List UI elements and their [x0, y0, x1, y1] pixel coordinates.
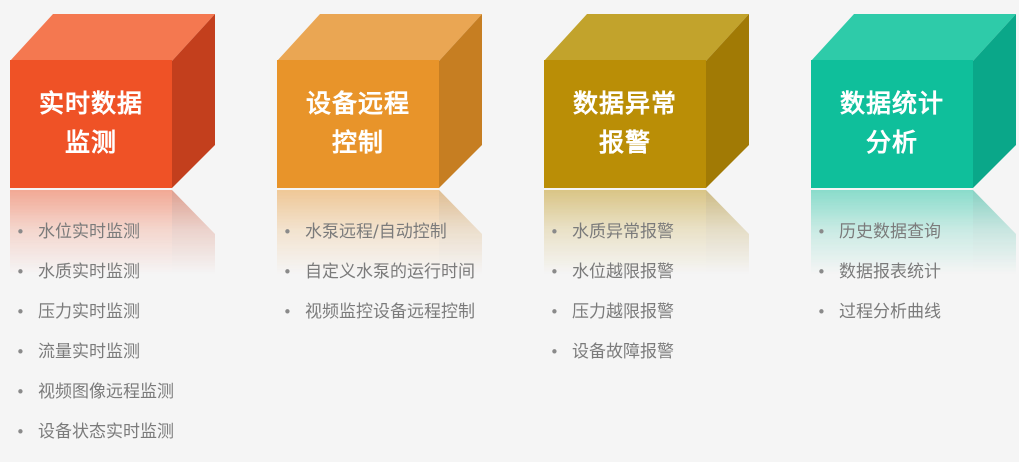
list-item-label: 水泵远程/自动控制	[305, 222, 447, 242]
feature-list-realtime-data-monitoring: •水位实时监测•水质实时监测•压力实时监测•流量实时监测•视频图像远程监测•设备…	[10, 222, 260, 462]
list-item[interactable]: •设备故障报警	[544, 342, 794, 382]
list-item-label: 水质实时监测	[38, 262, 140, 282]
cube-front-face	[10, 60, 172, 188]
list-item[interactable]: •流量实时监测	[10, 342, 260, 382]
bullet-dot-icon: •	[277, 225, 305, 240]
list-item[interactable]: •水位越限报警	[544, 262, 794, 302]
list-item-label: 设备状态实时监测	[38, 422, 174, 442]
bullet-dot-icon: •	[544, 305, 572, 320]
list-item[interactable]: •视频图像远程监测	[10, 382, 260, 422]
list-item-label: 流量实时监测	[38, 342, 140, 362]
list-item[interactable]: •数据报表统计	[811, 262, 1019, 302]
list-item[interactable]: •水泵远程/自动控制	[277, 222, 527, 262]
bullet-dot-icon: •	[544, 345, 572, 360]
bullet-dot-icon: •	[10, 305, 38, 320]
cube-data-statistics-analysis[interactable]: 数据统计分析	[811, 14, 1016, 189]
cube-shape: 数据统计分析	[811, 14, 1016, 189]
feature-list-data-anomaly-alarm: •水质异常报警•水位越限报警•压力越限报警•设备故障报警	[544, 222, 794, 382]
feature-list-device-remote-control: •水泵远程/自动控制•自定义水泵的运行时间•视频监控设备远程控制	[277, 222, 527, 342]
list-item-label: 视频图像远程监测	[38, 382, 174, 402]
list-item[interactable]: •水质实时监测	[10, 262, 260, 302]
cube-front-face	[811, 60, 973, 188]
list-item-label: 数据报表统计	[839, 262, 941, 282]
bullet-dot-icon: •	[811, 265, 839, 280]
cube-shape: 设备远程控制	[277, 14, 482, 189]
feature-list-data-statistics-analysis: •历史数据查询•数据报表统计•过程分析曲线	[811, 222, 1019, 342]
bullet-dot-icon: •	[10, 425, 38, 440]
bullet-dot-icon: •	[10, 225, 38, 240]
list-item[interactable]: •过程分析曲线	[811, 302, 1019, 342]
bullet-dot-icon: •	[277, 305, 305, 320]
cube-realtime-data-monitoring[interactable]: 实时数据监测	[10, 14, 215, 189]
list-item[interactable]: •设备状态实时监测	[10, 422, 260, 462]
list-item-label: 水位越限报警	[572, 262, 674, 282]
list-item[interactable]: •视频监控设备远程控制	[277, 302, 527, 342]
list-item-label: 水位实时监测	[38, 222, 140, 242]
bullet-dot-icon: •	[10, 345, 38, 360]
bullet-dot-icon: •	[277, 265, 305, 280]
bullet-dot-icon: •	[544, 265, 572, 280]
bullet-dot-icon: •	[811, 225, 839, 240]
list-item[interactable]: •压力越限报警	[544, 302, 794, 342]
cube-data-anomaly-alarm[interactable]: 数据异常报警	[544, 14, 749, 189]
feature-cubes-board: 实时数据监测•水位实时监测•水质实时监测•压力实时监测•流量实时监测•视频图像远…	[0, 0, 1019, 442]
list-item-label: 视频监控设备远程控制	[305, 302, 475, 322]
cube-device-remote-control[interactable]: 设备远程控制	[277, 14, 482, 189]
list-item[interactable]: •水质异常报警	[544, 222, 794, 262]
list-item[interactable]: •水位实时监测	[10, 222, 260, 262]
bullet-dot-icon: •	[10, 385, 38, 400]
bullet-dot-icon: •	[811, 305, 839, 320]
list-item-label: 水质异常报警	[572, 222, 674, 242]
list-item-label: 设备故障报警	[572, 342, 674, 362]
bullet-dot-icon: •	[544, 225, 572, 240]
cube-shape: 数据异常报警	[544, 14, 749, 189]
list-item-label: 压力越限报警	[572, 302, 674, 322]
list-item-label: 历史数据查询	[839, 222, 941, 242]
list-item[interactable]: •压力实时监测	[10, 302, 260, 342]
bullet-dot-icon: •	[10, 265, 38, 280]
list-item[interactable]: •自定义水泵的运行时间	[277, 262, 527, 302]
list-item-label: 自定义水泵的运行时间	[305, 262, 475, 282]
cube-front-face	[277, 60, 439, 188]
cube-shape: 实时数据监测	[10, 14, 215, 189]
list-item[interactable]: •历史数据查询	[811, 222, 1019, 262]
list-item-label: 过程分析曲线	[839, 302, 941, 322]
list-item-label: 压力实时监测	[38, 302, 140, 322]
cube-front-face	[544, 60, 706, 188]
